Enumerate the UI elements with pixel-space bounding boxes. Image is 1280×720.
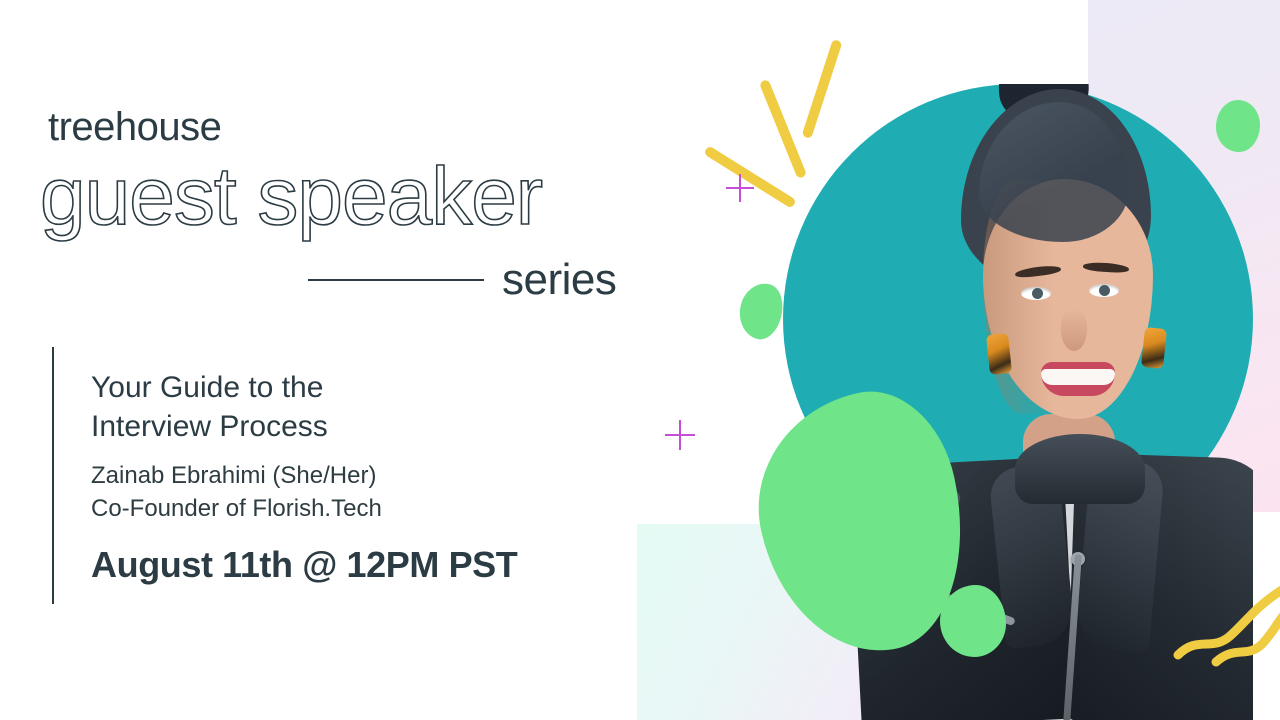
vertical-accent-rule xyxy=(52,347,54,604)
pupil-right xyxy=(1099,285,1110,296)
treehouse-wordmark: treehouse xyxy=(48,105,221,150)
series-row: series xyxy=(308,252,624,308)
pupil-left xyxy=(1032,288,1043,299)
session-title-line-2: Interview Process xyxy=(91,407,631,446)
session-title: Your Guide to the Interview Process xyxy=(91,368,631,447)
green-blob-small xyxy=(940,585,1006,657)
session-details: Your Guide to the Interview Process Zain… xyxy=(91,368,631,586)
series-label: series xyxy=(502,258,616,302)
speaker-name: Zainab Ebrahimi (She/Her) xyxy=(91,459,631,492)
series-divider-rule xyxy=(308,279,484,281)
mouth-shape xyxy=(1041,362,1115,396)
nose-shape xyxy=(1061,309,1087,351)
yellow-squiggle-lines xyxy=(1160,580,1280,720)
earring-right xyxy=(1141,327,1167,369)
magenta-plus-lower xyxy=(665,420,695,450)
session-title-line-1: Your Guide to the xyxy=(91,368,631,407)
promo-slide: treehouse guest speaker series Your Guid… xyxy=(0,0,1280,720)
speaker-role: Co-Founder of Florish.Tech xyxy=(91,492,631,525)
earring-left xyxy=(986,333,1012,375)
session-date-time: August 11th @ 12PM PST xyxy=(91,544,631,586)
magenta-plus-upper xyxy=(726,174,754,202)
jacket-collar xyxy=(1015,434,1145,504)
teeth-shape xyxy=(1041,369,1115,385)
headline-outline-text: guest speaker xyxy=(40,156,542,238)
green-blob-left xyxy=(734,279,788,343)
